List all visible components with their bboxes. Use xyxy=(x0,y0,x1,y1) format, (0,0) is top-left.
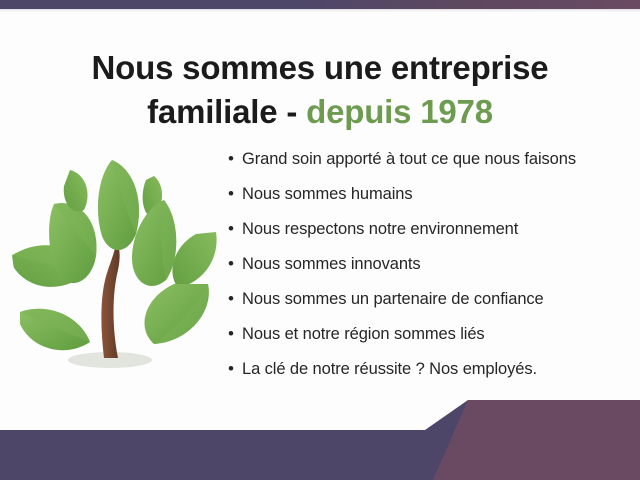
bullet-marker-icon: • xyxy=(228,325,242,342)
top-accent-bar-shadow xyxy=(0,9,640,12)
list-item: • Nous sommes un partenaire de confiance xyxy=(228,290,628,325)
footer-bar: tabor-automobiles.fr xyxy=(0,400,640,480)
list-item: • Nous respectons notre environnement xyxy=(228,220,628,255)
bullet-marker-icon: • xyxy=(228,255,242,272)
page-title: Nous sommes une entreprise familiale - d… xyxy=(0,46,640,133)
tree-trunk xyxy=(101,236,119,358)
page-title-dash: - xyxy=(286,93,297,130)
page-title-accent: depuis 1978 xyxy=(306,93,493,130)
footer-shape xyxy=(0,400,640,480)
tree-logo-icon xyxy=(8,152,223,387)
page-title-line-1: Nous sommes une entreprise xyxy=(0,46,640,90)
bullet-marker-icon: • xyxy=(228,150,242,167)
benefits-list: • Grand soin apporté à tout ce que nous … xyxy=(228,150,628,395)
tree-illustration xyxy=(8,152,223,387)
bullet-marker-icon: • xyxy=(228,220,242,237)
list-item: • La clé de notre réussite ? Nos employé… xyxy=(228,360,628,395)
bullet-marker-icon: • xyxy=(228,360,242,377)
list-item-label: Nous sommes un partenaire de confiance xyxy=(242,290,544,310)
list-item-label: Nous et notre région sommes liés xyxy=(242,325,485,345)
list-item-label: Grand soin apporté à tout ce que nous fa… xyxy=(242,150,576,170)
bullet-marker-icon: • xyxy=(228,185,242,202)
footer-bar-right xyxy=(433,400,640,480)
list-item-label: Nous sommes humains xyxy=(242,185,413,205)
list-item: • Grand soin apporté à tout ce que nous … xyxy=(228,150,628,185)
page-title-line-2-prefix: familiale xyxy=(147,93,277,130)
list-item: • Nous sommes innovants xyxy=(228,255,628,290)
top-accent-bar xyxy=(0,0,640,9)
list-item-label: Nous sommes innovants xyxy=(242,255,421,275)
list-item-label: La clé de notre réussite ? Nos employés. xyxy=(242,360,537,380)
slide-canvas: Nous sommes une entreprise familiale - d… xyxy=(0,0,640,480)
list-item-label: Nous respectons notre environnement xyxy=(242,220,518,240)
page-title-line-2: familiale - depuis 1978 xyxy=(0,90,640,134)
list-item: • Nous sommes humains xyxy=(228,185,628,220)
list-item: • Nous et notre région sommes liés xyxy=(228,325,628,360)
bullet-marker-icon: • xyxy=(228,290,242,307)
